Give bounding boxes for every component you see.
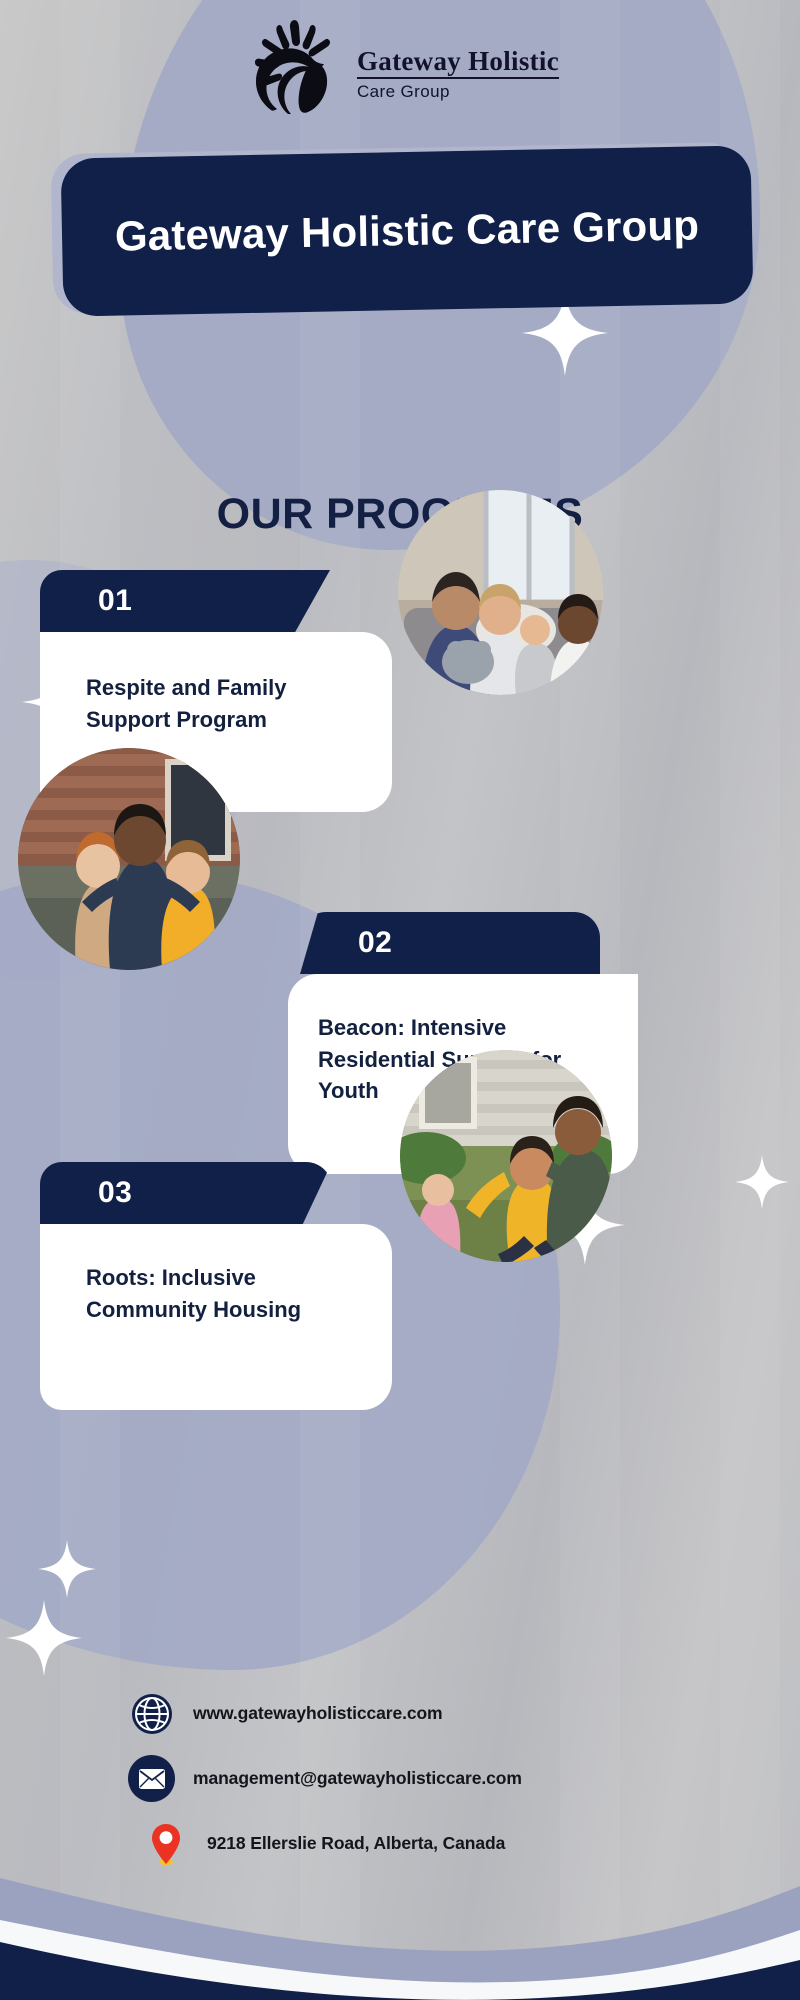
section-heading: OUR PROGRAMS [0,490,800,539]
program-number-badge-3: 03 [40,1162,332,1224]
program-card-3: 03 Roots: Inclusive Community Housing [40,1162,392,1410]
sparkle-icon [735,1155,789,1209]
program-number-2: 02 [300,926,392,960]
program-title-3: Roots: Inclusive Community Housing [86,1262,366,1325]
sparkle-icon [6,1600,82,1676]
website-value: www.gatewayholisticcare.com [193,1701,443,1726]
contact-row-email[interactable]: management@gatewayholisticcare.com [128,1755,748,1802]
sparkle-icon [38,1540,96,1598]
logo-name: Gateway Holistic [357,48,559,79]
globe-icon [128,1690,175,1737]
contact-row-website[interactable]: www.gatewayholisticcare.com [128,1690,748,1737]
program-card-body-3: Roots: Inclusive Community Housing [40,1224,392,1410]
brand-logo: Gateway Holistic Care Group [0,14,800,114]
program-photo-1 [398,490,603,695]
program-photo-3 [400,1050,612,1262]
contact-list: www.gatewayholisticcare.com management@g… [128,1690,748,1885]
program-number-3: 03 [40,1176,132,1210]
email-value: management@gatewayholisticcare.com [193,1766,522,1791]
program-number-badge-2: 02 [300,912,600,974]
title-banner: Gateway Holistic Care Group [61,145,754,316]
page-title: Gateway Holistic Care Group [107,200,708,263]
sunrise-hand-leaf-icon [241,14,351,114]
logo-subtitle: Care Group [357,82,450,102]
envelope-icon [128,1755,175,1802]
program-title-1: Respite and Family Support Program [86,672,364,735]
program-number-1: 01 [40,584,132,618]
infographic-poster: Gateway Holistic Care Group Gateway Holi… [0,0,800,2000]
contact-row-address[interactable]: 9218 Ellerslie Road, Alberta, Canada [142,1820,748,1867]
program-photo-2 [18,748,240,970]
program-number-badge-1: 01 [40,570,330,632]
address-value: 9218 Ellerslie Road, Alberta, Canada [207,1831,505,1856]
map-pin-icon [142,1820,189,1867]
